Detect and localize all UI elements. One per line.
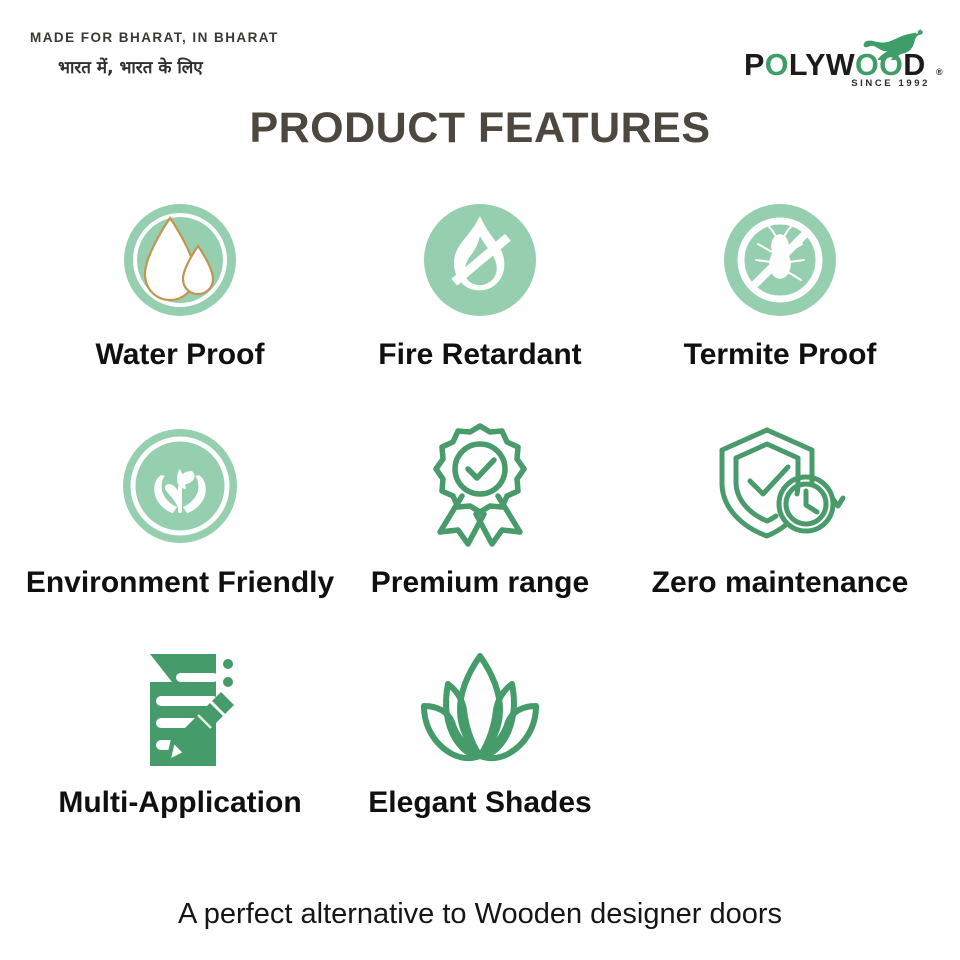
lotus-flower-icon	[416, 648, 544, 772]
registered-mark: ®	[936, 68, 943, 77]
feature-label: Premium range	[371, 566, 589, 600]
icon-container	[710, 416, 850, 556]
feature-fire-retardant[interactable]: Fire Retardant	[330, 196, 630, 416]
hands-plant-icon	[121, 427, 239, 545]
water-drop-icon	[122, 202, 238, 318]
feature-environment-friendly[interactable]: Environment Friendly	[30, 416, 330, 646]
features-row-1: Water Proof Fire Retardant	[30, 196, 930, 416]
tagline-hindi: भारत में, भारत के लिए	[58, 55, 279, 78]
icon-container	[722, 196, 838, 324]
icon-container	[422, 196, 538, 324]
product-features-poster: MADE FOR BHARAT, IN BHARAT भारत में, भार…	[0, 0, 960, 960]
feature-zero-maintenance[interactable]: Zero maintenance	[630, 416, 930, 646]
icon-container	[122, 196, 238, 324]
logo-since-text: SINCE 1992	[851, 78, 930, 89]
icon-container	[424, 416, 536, 556]
termite-prohibited-icon	[722, 202, 838, 318]
page-title: PRODUCT FEATURES	[0, 104, 960, 153]
logo-wordmark: POLYWOOD®	[744, 50, 934, 81]
fire-no-flame-icon	[422, 202, 538, 318]
feature-water-proof[interactable]: Water Proof	[30, 196, 330, 416]
footer-note: A perfect alternative to Wooden designer…	[0, 898, 960, 931]
document-pencil-icon	[116, 648, 244, 772]
polywood-logo: POLYWOOD® SINCE 1992	[744, 28, 934, 90]
icon-container	[416, 646, 544, 774]
feature-elegant-shades[interactable]: Elegant Shades	[330, 646, 630, 846]
features-row-2: Environment Friendly Premium	[30, 416, 930, 646]
feature-premium-range[interactable]: Premium range	[330, 416, 630, 646]
feature-termite-proof[interactable]: Termite Proof	[630, 196, 930, 416]
feature-label: Environment Friendly	[26, 566, 334, 600]
feature-label: Multi-Application	[58, 786, 301, 820]
feature-label: Zero maintenance	[652, 566, 909, 600]
feature-label: Fire Retardant	[378, 338, 581, 372]
tagline-english: MADE FOR BHARAT, IN BHARAT	[30, 30, 279, 45]
brand-tagline: MADE FOR BHARAT, IN BHARAT भारत में, भार…	[30, 30, 279, 78]
shield-check-clock-icon	[710, 424, 850, 549]
feature-multi-application[interactable]: Multi-Application	[30, 646, 330, 846]
feature-label: Termite Proof	[684, 338, 877, 372]
icon-container	[116, 646, 244, 774]
icon-container	[121, 416, 239, 556]
feature-label: Elegant Shades	[368, 786, 591, 820]
features-row-3: Multi-Application Elegant Sha	[30, 646, 930, 846]
features-grid: Water Proof Fire Retardant	[30, 196, 930, 846]
feature-label: Water Proof	[96, 338, 265, 372]
award-ribbon-check-icon	[424, 420, 536, 552]
